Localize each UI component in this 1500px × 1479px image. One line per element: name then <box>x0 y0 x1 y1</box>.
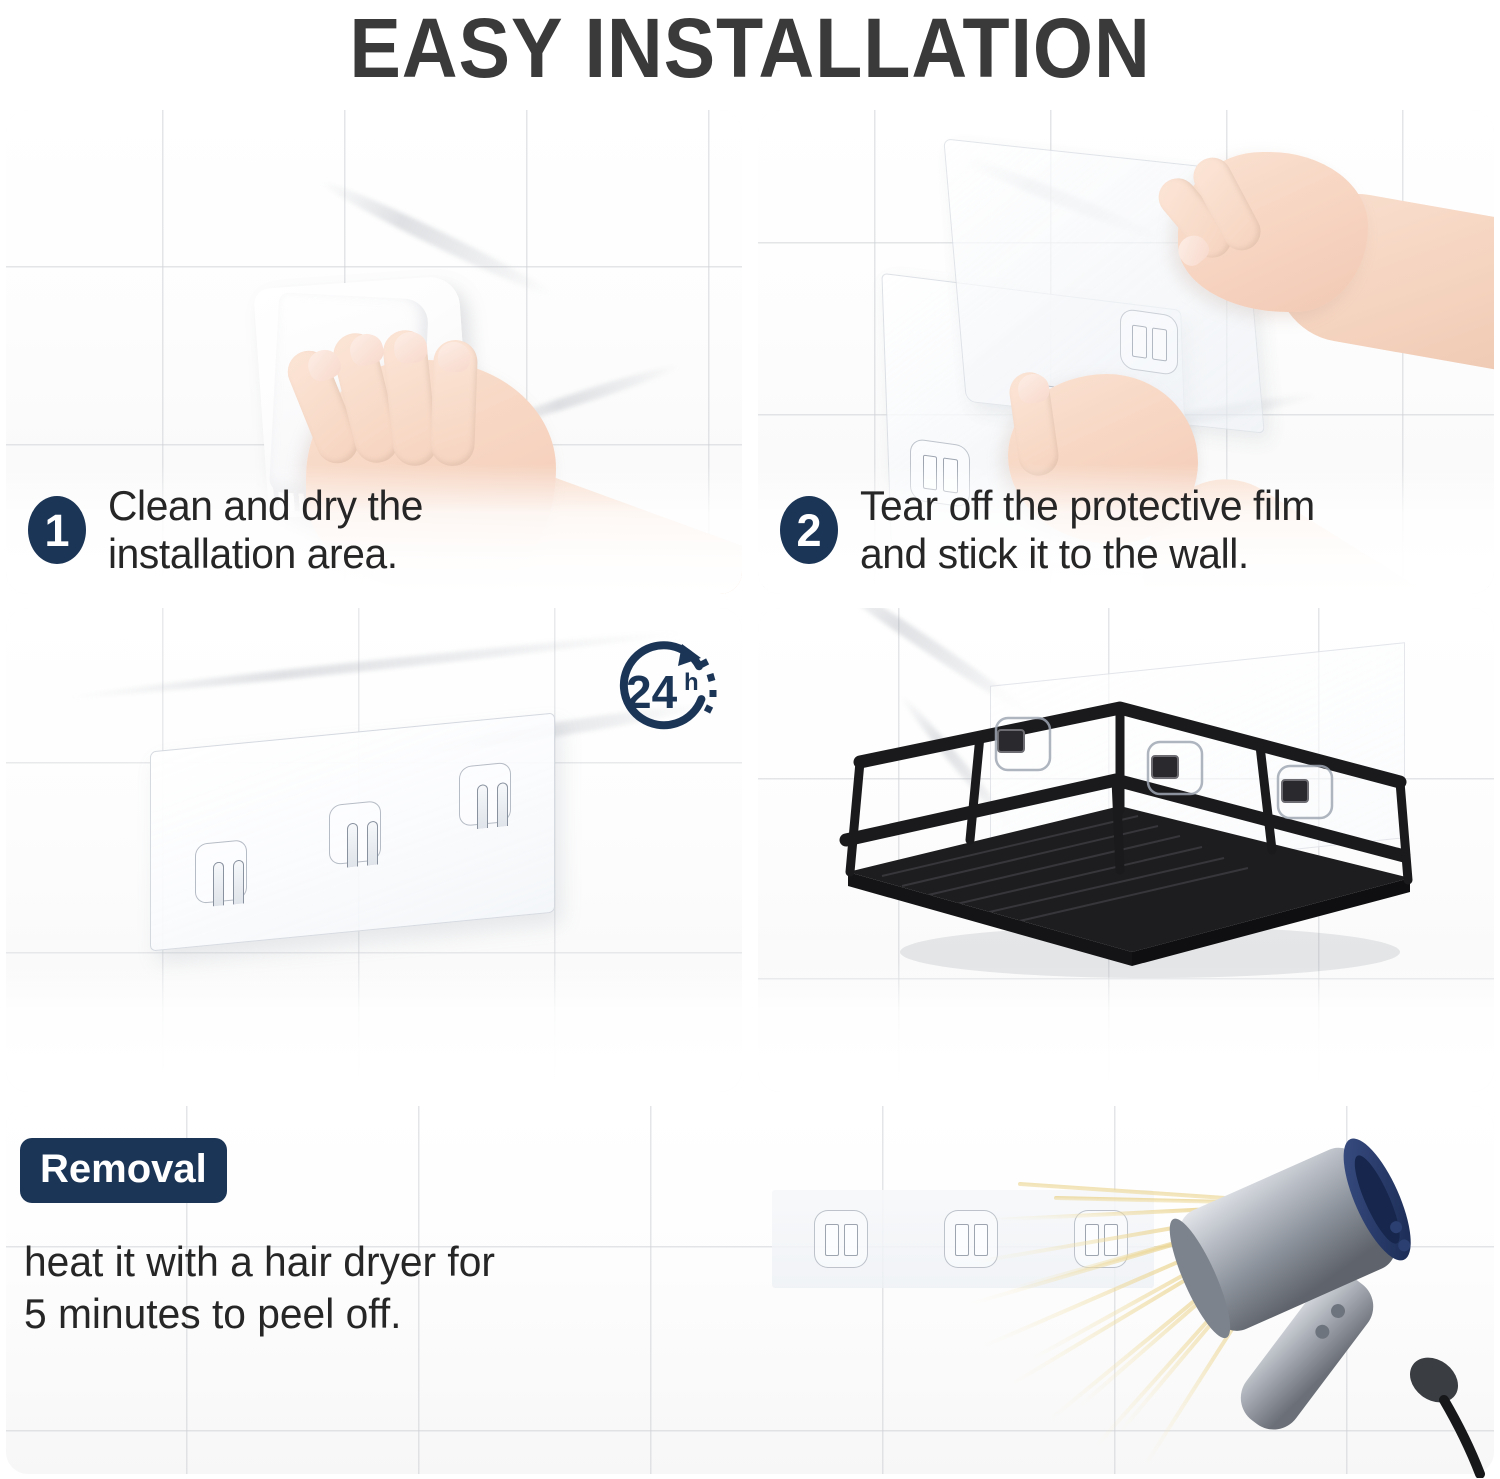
step-number-badge: 1 <box>28 496 86 564</box>
step-caption-text: Tear off the protective film and stick i… <box>860 482 1315 578</box>
infographic-page: EASY INSTALLATION 1 Clean and dry the in… <box>0 0 1500 1479</box>
adhesive-hook-pad <box>1120 308 1178 376</box>
wait-hours-value: 24 <box>626 666 678 718</box>
wait-hours-unit: h <box>684 669 699 696</box>
hook-wire <box>477 784 488 829</box>
dryer-barrel <box>1158 1130 1424 1345</box>
adhesive-hook-strip <box>150 713 555 952</box>
step-number-badge: 2 <box>780 496 838 564</box>
page-title: EASY INSTALLATION <box>60 2 1440 94</box>
hook-wire <box>367 821 378 866</box>
shower-caddy <box>820 690 1440 990</box>
step-2-caption: 2 Tear off the protective film and stick… <box>780 482 1329 578</box>
dashed-arc <box>703 660 713 712</box>
removal-text: heat it with a hair dryer for 5 minutes … <box>24 1236 645 1340</box>
dryer-cord <box>1401 1348 1480 1474</box>
hook-wire <box>347 822 358 867</box>
adhesive-hook-pad <box>814 1210 868 1268</box>
hair-dryer <box>1148 1118 1500 1478</box>
hook-wire <box>213 861 224 906</box>
hook-wire <box>233 859 244 904</box>
step-1-caption: 1 Clean and dry the installation area. <box>28 482 433 578</box>
step-2-panel: 2 Tear off the protective film and stick… <box>758 110 1494 594</box>
removal-badge: Removal <box>20 1138 227 1203</box>
24-hour-wait-icon: 24 h <box>602 636 720 748</box>
step-1-panel: 1 Clean and dry the installation area. <box>6 110 742 594</box>
fingernail <box>437 341 470 372</box>
hook-wire <box>497 782 508 827</box>
step-caption-text: Clean and dry the installation area. <box>108 482 423 578</box>
